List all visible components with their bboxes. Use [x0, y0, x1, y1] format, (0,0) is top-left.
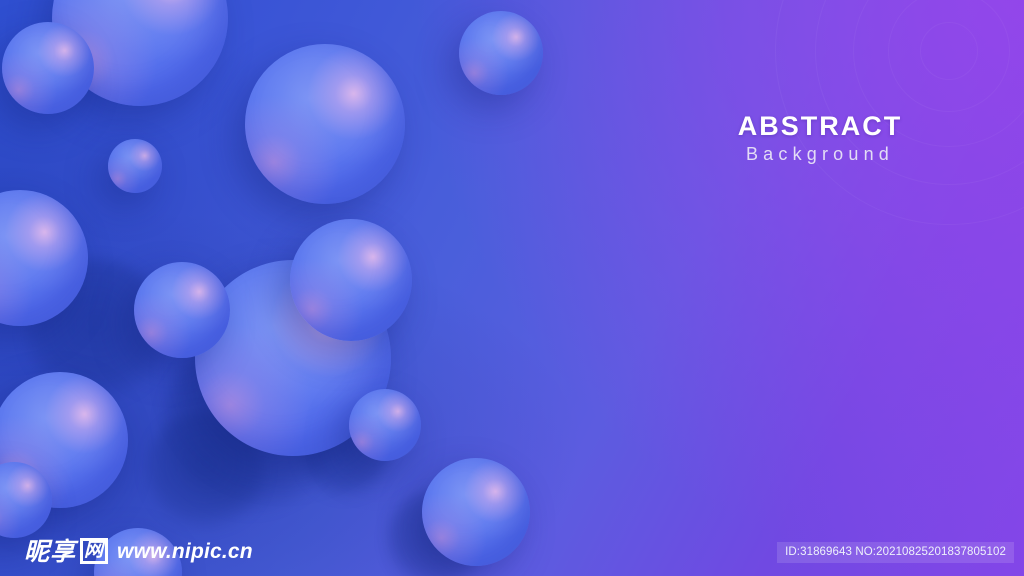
watermark-logo-boxed-char: 网 — [80, 538, 108, 564]
sphere — [459, 11, 543, 95]
ring-3-icon — [853, 0, 1024, 147]
watermark-logo: 昵享 网 — [24, 538, 108, 564]
page-title: ABSTRACT Background — [695, 112, 945, 165]
sphere — [290, 219, 412, 341]
sphere — [422, 458, 530, 566]
id-badge: ID:31869643 NO:20210825201837805102 — [777, 542, 1014, 563]
sphere — [349, 389, 421, 461]
headline-title: ABSTRACT — [695, 112, 945, 140]
sphere — [245, 44, 405, 204]
sphere — [134, 262, 230, 358]
sphere — [108, 139, 162, 193]
ring-4-icon — [815, 0, 1024, 185]
sphere — [2, 22, 94, 114]
watermark-url: www.nipic.cn — [117, 541, 253, 562]
headline-subtitle: Background — [695, 145, 945, 165]
abstract-background-canvas: ABSTRACT Background 昵享 网 www.nipic.cn ID… — [0, 0, 1024, 576]
watermark: 昵享 网 www.nipic.cn — [24, 538, 253, 564]
ring-1-icon — [920, 22, 978, 80]
watermark-logo-text: 昵享 — [24, 539, 76, 564]
ring-2-icon — [888, 0, 1010, 112]
ring-5-icon — [775, 0, 1024, 225]
